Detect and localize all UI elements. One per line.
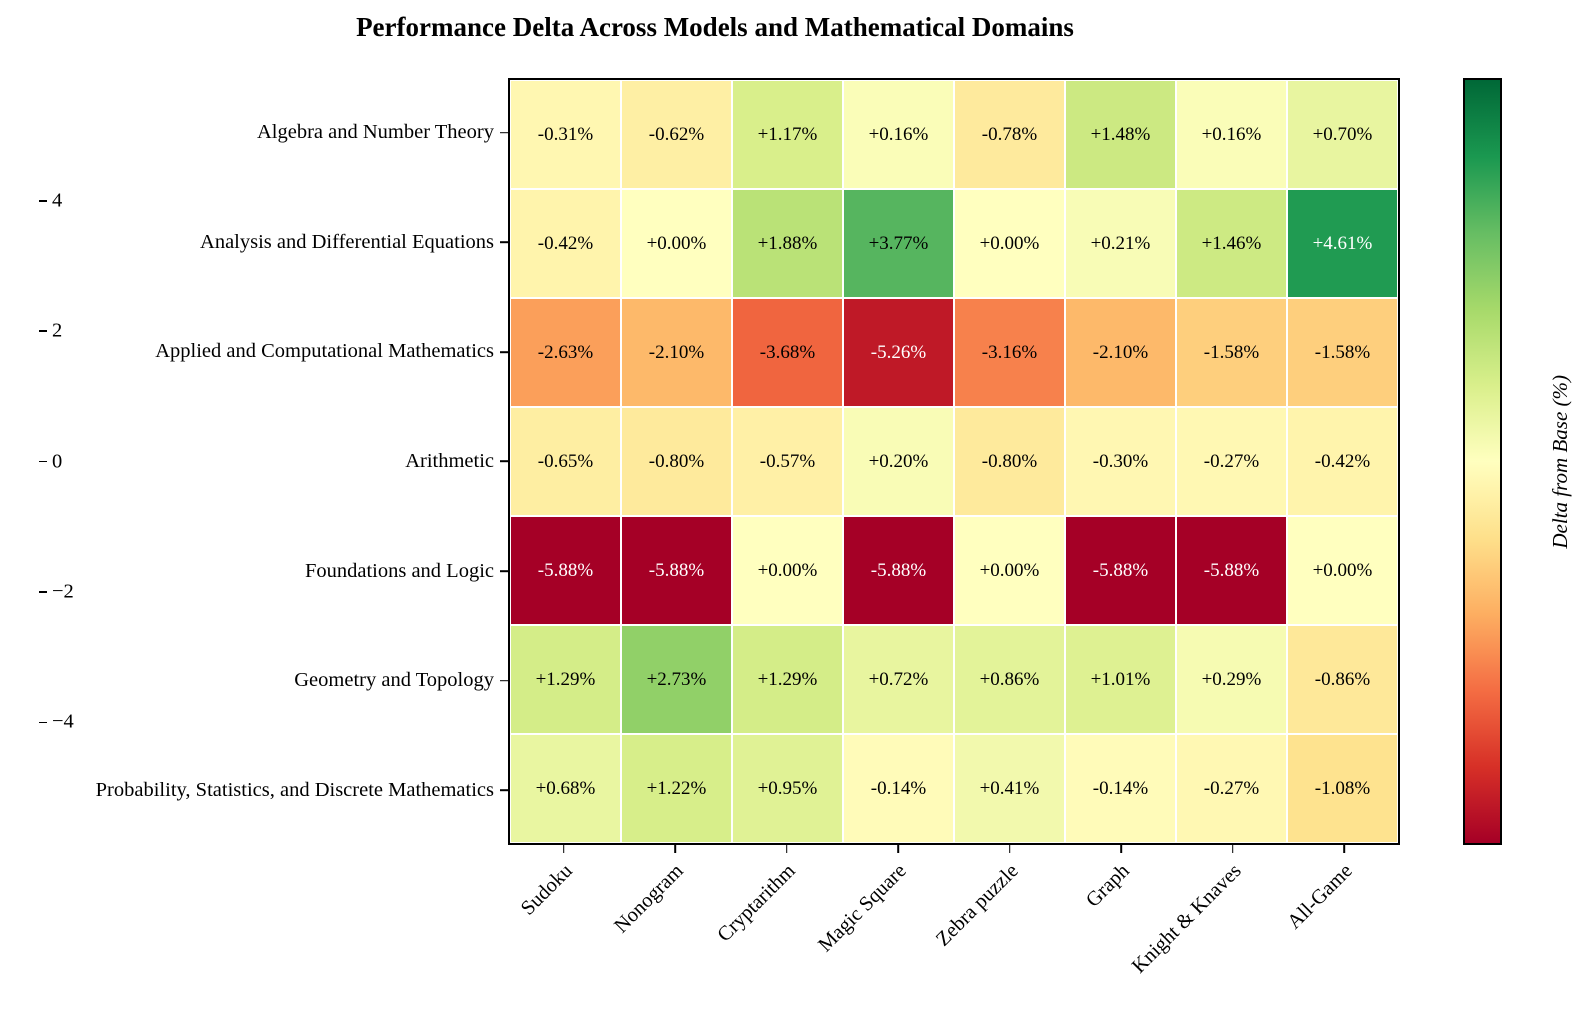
heatmap-cell-value: -0.14%: [1093, 779, 1148, 798]
heatmap-cell: -0.27%: [1176, 407, 1287, 516]
heatmap-cell-value: +1.17%: [758, 125, 818, 144]
x-axis-ticks: [508, 845, 1400, 855]
heatmap-plot-area: -0.31%-0.62%+1.17%+0.16%-0.78%+1.48%+0.1…: [508, 78, 1400, 845]
heatmap-cell: +0.00%: [732, 516, 843, 625]
heatmap-cell: -1.58%: [1176, 298, 1287, 407]
colorbar-tick-mark: [39, 200, 47, 202]
colorbar-axis-label: Delta from Base (%): [1541, 78, 1581, 845]
heatmap-cell-value: -0.27%: [1204, 779, 1259, 798]
heatmap-cell: -0.27%: [1176, 734, 1287, 843]
heatmap-cell: +1.46%: [1176, 189, 1287, 298]
heatmap-cell-value: -0.27%: [1204, 452, 1259, 471]
colorbar-axis-label-text: Delta from Base (%): [1549, 375, 1574, 549]
heatmap-cell: -0.30%: [1065, 407, 1176, 516]
x-axis-tick-label: Sudoku: [517, 857, 580, 920]
heatmap-cell: -5.88%: [621, 516, 732, 625]
heatmap-cell-value: -1.58%: [1315, 343, 1370, 362]
x-axis-tick-slot: Cryptarithm: [731, 857, 843, 987]
y-axis-tick-mark: [498, 297, 508, 407]
x-axis-tick-label: Graph: [1082, 857, 1137, 912]
heatmap-cell-value: +0.72%: [869, 670, 929, 689]
x-axis-tick-slot: Sudoku: [508, 857, 620, 987]
heatmap-cell: +0.41%: [954, 734, 1065, 843]
heatmap-cell: +0.00%: [621, 189, 732, 298]
heatmap-cell-value: +4.61%: [1313, 234, 1373, 253]
heatmap-cell-value: +0.16%: [869, 125, 929, 144]
heatmap-cell-value: +0.00%: [758, 561, 818, 580]
heatmap-cell: -2.10%: [621, 298, 732, 407]
colorbar-tick-mark: [39, 591, 47, 593]
colorbar-tick-label: 0: [52, 450, 62, 473]
x-axis-tick-mark: [1289, 845, 1401, 855]
heatmap-cell-value: +0.00%: [1313, 561, 1373, 580]
heatmap-cell-value: +1.22%: [647, 779, 707, 798]
heatmap-cell: -0.57%: [732, 407, 843, 516]
x-axis-tick-label: Nonogram: [610, 857, 691, 938]
heatmap-cell-value: +0.68%: [536, 779, 596, 798]
heatmap-cell-value: +2.73%: [647, 670, 707, 689]
heatmap-cell-value: +0.95%: [758, 779, 818, 798]
heatmap-cell: -0.86%: [1287, 625, 1398, 734]
heatmap-cell-value: -3.16%: [982, 343, 1037, 362]
heatmap-cell-value: -0.30%: [1093, 452, 1148, 471]
heatmap-cell: -0.78%: [954, 80, 1065, 189]
colorbar: [1463, 78, 1502, 845]
x-axis-tick-mark: [954, 845, 1066, 855]
heatmap-cell-value: -1.08%: [1315, 779, 1370, 798]
heatmap-cell-value: +1.29%: [536, 670, 596, 689]
heatmap-cell: -2.10%: [1065, 298, 1176, 407]
heatmap-cell: +1.22%: [621, 734, 732, 843]
x-axis-tick-mark: [843, 845, 955, 855]
heatmap-cell: +0.86%: [954, 625, 1065, 734]
heatmap-cell-value: +0.29%: [1202, 670, 1262, 689]
heatmap-cell-value: -3.68%: [760, 343, 815, 362]
heatmap-cell-value: -0.31%: [538, 125, 593, 144]
heatmap-cell-value: -5.88%: [649, 561, 704, 580]
heatmap-cell-value: -1.58%: [1204, 343, 1259, 362]
y-axis-tick-mark: [498, 407, 508, 517]
heatmap-cell: -5.88%: [510, 516, 621, 625]
heatmap-cell: +0.00%: [1287, 516, 1398, 625]
x-axis-tick-mark: [1066, 845, 1178, 855]
heatmap-cell: +1.29%: [732, 625, 843, 734]
x-axis-tick-mark: [620, 845, 732, 855]
heatmap-cell: -5.88%: [843, 516, 954, 625]
heatmap-cell: +4.61%: [1287, 189, 1398, 298]
heatmap-grid: -0.31%-0.62%+1.17%+0.16%-0.78%+1.48%+0.1…: [510, 80, 1398, 843]
heatmap-cell: +0.72%: [843, 625, 954, 734]
heatmap-cell-value: +3.77%: [869, 234, 929, 253]
x-axis-tick-slot: Nonogram: [620, 857, 732, 987]
heatmap-cell-value: +1.46%: [1202, 234, 1262, 253]
heatmap-cell: +2.73%: [621, 625, 732, 734]
heatmap-cell-value: -0.80%: [982, 452, 1037, 471]
colorbar-tick-mark: [39, 330, 47, 332]
colorbar-tick-label: −2: [52, 580, 74, 603]
heatmap-cell: -0.80%: [954, 407, 1065, 516]
heatmap-cell: +1.48%: [1065, 80, 1176, 189]
heatmap-cell-value: -2.10%: [649, 343, 704, 362]
heatmap-cell-value: +0.21%: [1091, 234, 1151, 253]
y-axis-tick-mark: [498, 516, 508, 626]
heatmap-cell: -0.14%: [843, 734, 954, 843]
heatmap-cell-value: -5.88%: [538, 561, 593, 580]
heatmap-cell: +0.70%: [1287, 80, 1398, 189]
heatmap-cell: -5.88%: [1065, 516, 1176, 625]
heatmap-cell: +0.16%: [843, 80, 954, 189]
heatmap-cell-value: -5.88%: [1204, 561, 1259, 580]
x-axis-tick-slot: Zebra puzzle: [954, 857, 1066, 987]
heatmap-cell: -3.16%: [954, 298, 1065, 407]
x-axis-tick-slot: Knight & Knaves: [1177, 857, 1289, 987]
heatmap-cell-value: +0.20%: [869, 452, 929, 471]
heatmap-cell: +0.68%: [510, 734, 621, 843]
x-axis-tick-slot: Graph: [1066, 857, 1178, 987]
colorbar-ticks: 420−2−4: [39, 78, 99, 845]
heatmap-cell-value: +0.00%: [647, 234, 707, 253]
heatmap-cell-value: +1.29%: [758, 670, 818, 689]
heatmap-cell-value: +0.16%: [1202, 125, 1262, 144]
heatmap-cell: -5.88%: [1176, 516, 1287, 625]
heatmap-cell-value: +0.70%: [1313, 125, 1373, 144]
heatmap-cell-value: -5.88%: [871, 561, 926, 580]
heatmap-cell: +1.17%: [732, 80, 843, 189]
heatmap-cell: -0.42%: [1287, 407, 1398, 516]
y-axis-tick-mark: [498, 78, 508, 188]
heatmap-cell: +1.88%: [732, 189, 843, 298]
heatmap-cell-value: -5.88%: [1093, 561, 1148, 580]
x-axis-tick-mark: [731, 845, 843, 855]
heatmap-cell-value: -0.14%: [871, 779, 926, 798]
heatmap-cell: +1.29%: [510, 625, 621, 734]
heatmap-cell-value: -0.86%: [1315, 670, 1370, 689]
heatmap-cell: +0.29%: [1176, 625, 1287, 734]
heatmap-cell: -0.80%: [621, 407, 732, 516]
x-axis-tick-mark: [508, 845, 620, 855]
heatmap-cell-value: -0.42%: [1315, 452, 1370, 471]
heatmap-cell-value: -2.63%: [538, 343, 593, 362]
heatmap-cell-value: +0.41%: [980, 779, 1040, 798]
colorbar-tick-label: −4: [52, 711, 74, 734]
heatmap-cell-value: +1.88%: [758, 234, 818, 253]
heatmap-cell-value: -0.62%: [649, 125, 704, 144]
heatmap-cell-value: +1.48%: [1091, 125, 1151, 144]
x-axis-tick-mark: [1177, 845, 1289, 855]
heatmap-cell: -2.63%: [510, 298, 621, 407]
heatmap-figure: Performance Delta Across Models and Math…: [0, 0, 1589, 1026]
heatmap-cell: +0.16%: [1176, 80, 1287, 189]
heatmap-cell: -0.14%: [1065, 734, 1176, 843]
heatmap-cell-value: +0.00%: [980, 234, 1040, 253]
colorbar-tick-label: 2: [52, 320, 62, 343]
page-title: Performance Delta Across Models and Math…: [0, 12, 1430, 43]
colorbar-tick-mark: [39, 461, 47, 463]
heatmap-cell: +1.01%: [1065, 625, 1176, 734]
heatmap-cell-value: -2.10%: [1093, 343, 1148, 362]
heatmap-cell: +0.20%: [843, 407, 954, 516]
y-axis-tick-mark: [498, 188, 508, 298]
heatmap-cell: +0.21%: [1065, 189, 1176, 298]
x-axis-tick-label: All-Game: [1283, 857, 1360, 934]
y-axis-tick-mark: [498, 626, 508, 736]
heatmap-cell-value: +1.01%: [1091, 670, 1151, 689]
heatmap-cell: +0.00%: [954, 189, 1065, 298]
colorbar-gradient: [1463, 78, 1502, 845]
colorbar-tick-mark: [39, 722, 47, 724]
x-axis-tick-labels: SudokuNonogramCryptarithmMagic SquareZeb…: [508, 857, 1400, 987]
colorbar-tick-label: 4: [52, 189, 62, 212]
heatmap-cell: -0.62%: [621, 80, 732, 189]
heatmap-cell: +0.00%: [954, 516, 1065, 625]
heatmap-cell: +3.77%: [843, 189, 954, 298]
heatmap-cell-value: -0.80%: [649, 452, 704, 471]
heatmap-cell: -1.08%: [1287, 734, 1398, 843]
heatmap-cell-value: -0.65%: [538, 452, 593, 471]
heatmap-cell-value: +0.00%: [980, 561, 1040, 580]
heatmap-cell-value: -5.26%: [871, 343, 926, 362]
heatmap-cell-value: +0.86%: [980, 670, 1040, 689]
x-axis-tick-slot: All-Game: [1289, 857, 1401, 987]
heatmap-cell: -0.31%: [510, 80, 621, 189]
heatmap-cell: -0.42%: [510, 189, 621, 298]
heatmap-cell: -1.58%: [1287, 298, 1398, 407]
y-axis-ticks: [498, 78, 508, 845]
heatmap-cell: -3.68%: [732, 298, 843, 407]
y-axis-tick-mark: [498, 735, 508, 845]
heatmap-cell: -5.26%: [843, 298, 954, 407]
heatmap-cell-value: -0.78%: [982, 125, 1037, 144]
heatmap-cell-value: -0.42%: [538, 234, 593, 253]
heatmap-cell: +0.95%: [732, 734, 843, 843]
x-axis-tick-slot: Magic Square: [843, 857, 955, 987]
heatmap-cell: -0.65%: [510, 407, 621, 516]
heatmap-cell-value: -0.57%: [760, 452, 815, 471]
